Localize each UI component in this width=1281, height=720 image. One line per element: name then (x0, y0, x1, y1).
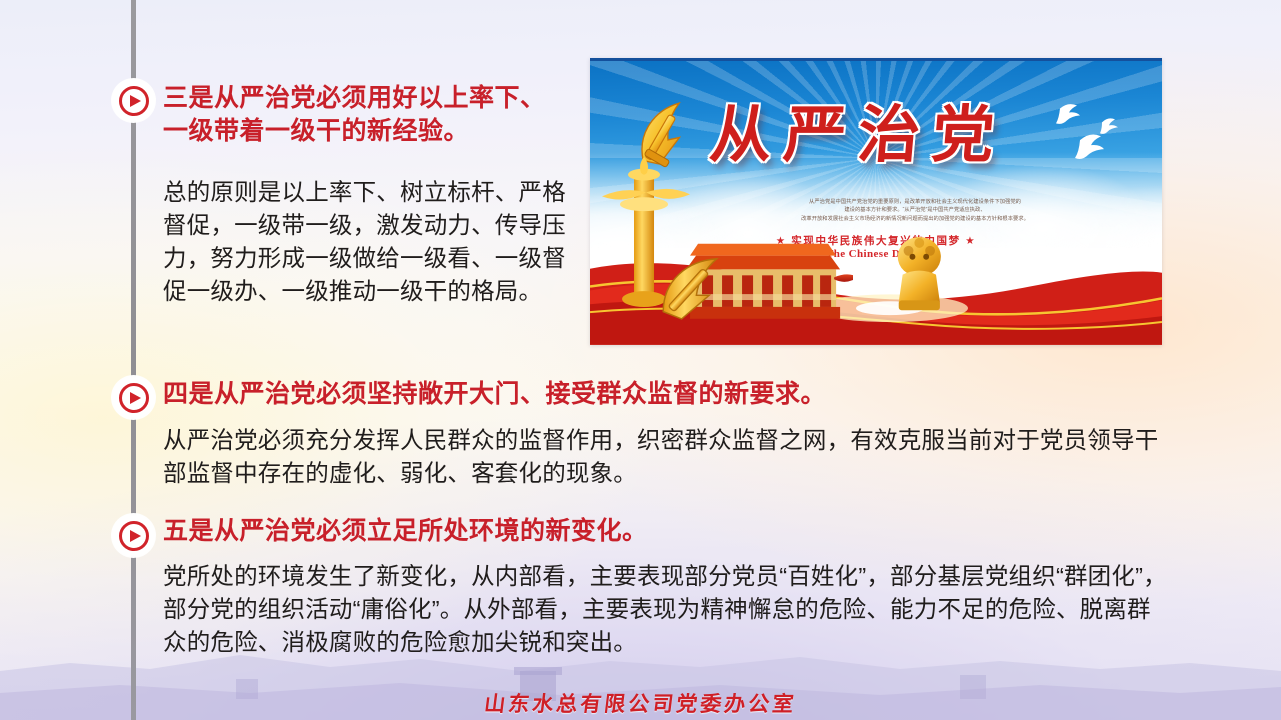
play-circle-icon (111, 513, 156, 558)
section-three-heading: 三是从严治党必须用好以上率下、 一级带着一级干的新经验。 (163, 82, 578, 148)
section-three: 三是从严治党必须用好以上率下、 一级带着一级干的新经验。 总的原则是以上率下、树… (163, 82, 578, 308)
section-four-heading: 四是从严治党必须坚持敞开大门、接受群众监督的新要求。 (163, 378, 1163, 411)
play-triangle (130, 95, 141, 107)
tiananmen-monument-illustration (590, 141, 853, 345)
poster-canvas: 从严治党 从严治党是中国共产党治党的重要原则，是改革开放和社会主义现代化建设条件… (590, 61, 1162, 345)
section-five: 五是从严治党必须立足所处环境的新变化。 党所处的环境发生了新变化，从内部看，主要… (163, 515, 1168, 659)
presentation-slide: 三是从严治党必须用好以上率下、 一级带着一级干的新经验。 总的原则是以上率下、树… (0, 0, 1281, 720)
section-four: 四是从严治党必须坚持敞开大门、接受群众监督的新要求。 从严治党必须充分发挥人民群… (163, 378, 1163, 490)
play-circle-ring (119, 383, 149, 413)
play-circle-ring (119, 86, 149, 116)
footer-organization: 山东水总有限公司党委办公室 (0, 688, 1281, 718)
section-three-body: 总的原则是以上率下、树立标杆、严格督促，一级带一级，激发动力、传导压力，努力形成… (163, 176, 568, 308)
golden-lion-statue-illustration (885, 231, 954, 316)
play-circle-icon (111, 375, 156, 420)
play-circle-ring (119, 521, 149, 551)
propaganda-poster-image: 从严治党 从严治党是中国共产党治党的重要原则，是改革开放和社会主义现代化建设条件… (590, 58, 1162, 345)
section-four-body: 从严治党必须充分发挥人民群众的监督作用，织密群众监督之网，有效克服当前对于党员领… (163, 424, 1165, 490)
section-five-heading: 五是从严治党必须立足所处环境的新变化。 (163, 515, 1168, 548)
play-triangle (130, 530, 141, 542)
section-five-body: 党所处的环境发生了新变化，从内部看，主要表现部分党员“百姓化”，部分基层党组织“… (163, 560, 1173, 659)
play-triangle (130, 392, 141, 404)
play-circle-icon (111, 78, 156, 123)
